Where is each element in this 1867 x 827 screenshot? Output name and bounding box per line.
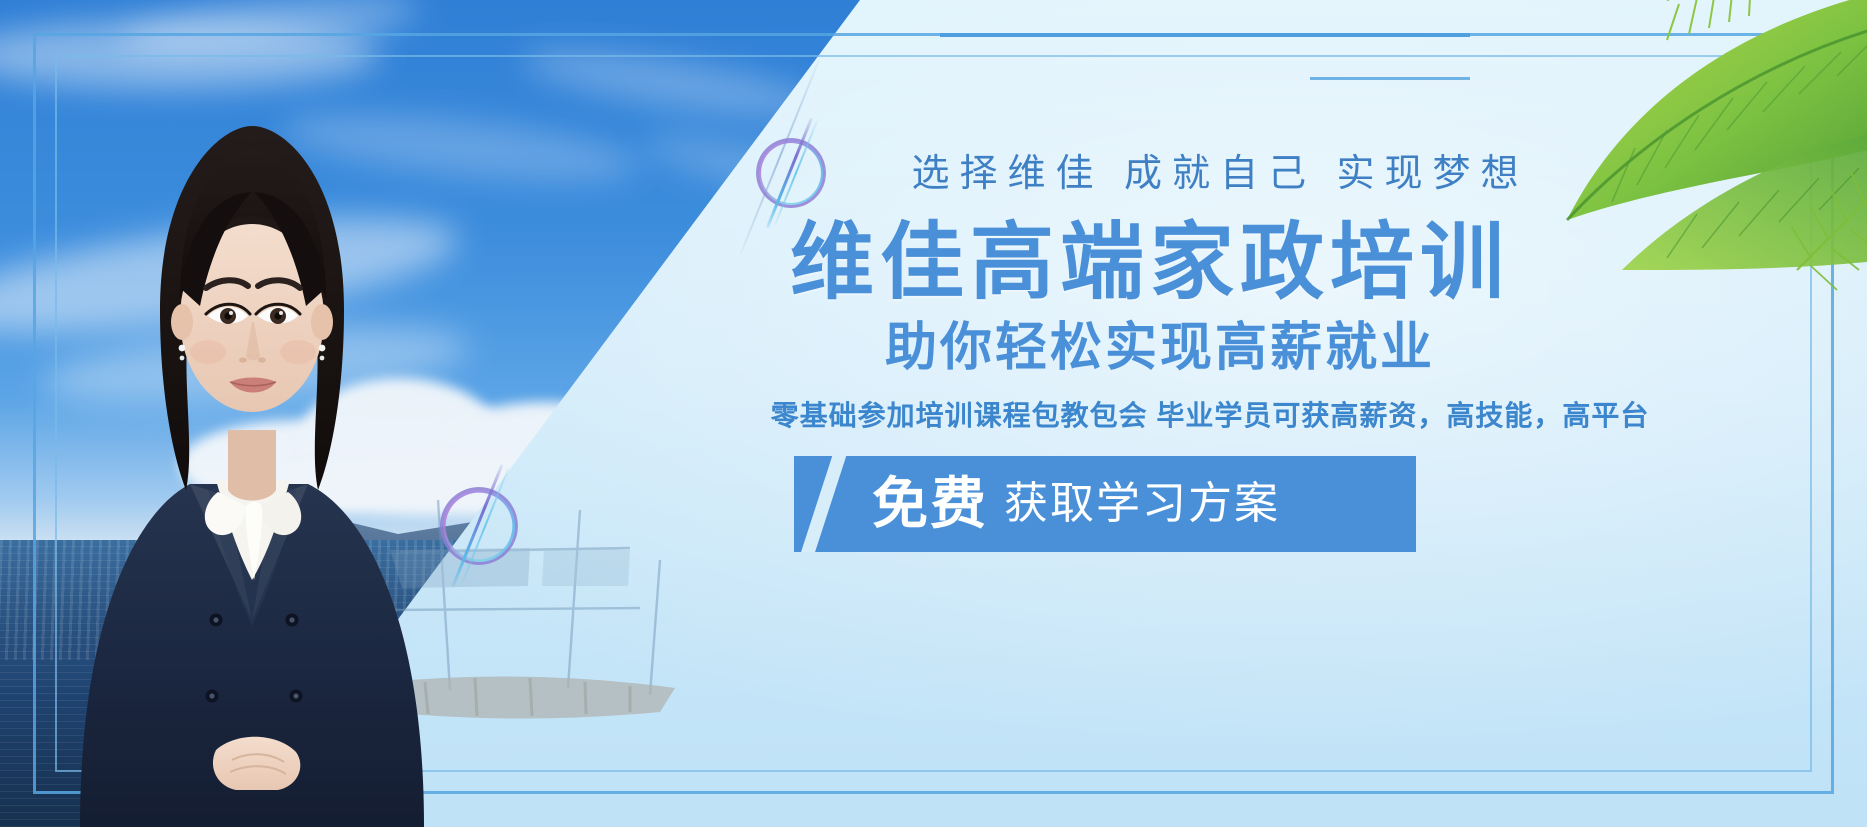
promo-banner: 选择维佳 成就自己 实现梦想 维佳高端家政培训 助你轻松实现高薪就业 零基础参加… bbox=[0, 0, 1867, 827]
cta-label: 获取学习方案 bbox=[1004, 482, 1280, 526]
banner-content: 选择维佳 成就自己 实现梦想 维佳高端家政培训 助你轻松实现高薪就业 零基础参加… bbox=[860, 0, 1867, 827]
banner-tagline: 选择维佳 成就自己 实现梦想 bbox=[840, 142, 1600, 197]
banner-headline: 维佳高端家政培训 bbox=[720, 195, 1580, 316]
cta-emphasis-label: 免费 bbox=[872, 476, 988, 532]
banner-subheadline: 助你轻松实现高薪就业 bbox=[760, 305, 1560, 380]
slash-accent-icon bbox=[796, 456, 850, 552]
get-learning-plan-button[interactable]: 免费 获取学习方案 bbox=[794, 456, 1416, 552]
banner-description: 零基础参加培训课程包教包会 毕业学员可获高薪资，高技能，高平台 bbox=[590, 394, 1830, 434]
